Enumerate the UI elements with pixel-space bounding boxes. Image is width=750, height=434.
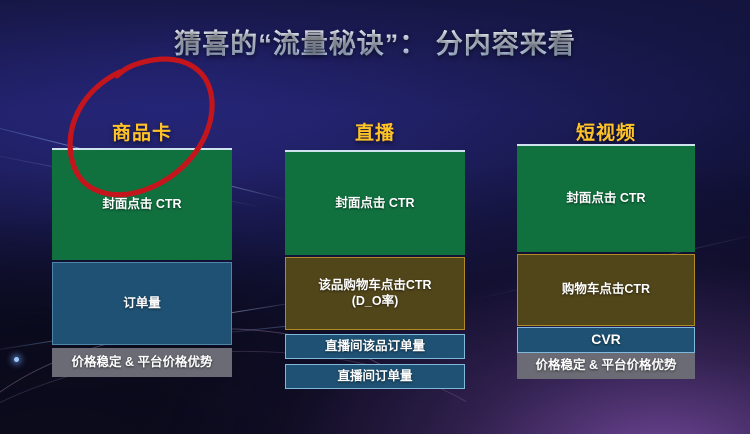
metric-box-cvr[interactable]: CVR [517,327,695,353]
metric-box-room-orders[interactable]: 直播间订单量 [285,364,465,389]
metric-box-cover-ctr[interactable]: 封面点击 CTR [52,148,232,260]
metric-label: 封面点击 CTR [335,196,414,212]
metric-label: CVR [591,331,621,349]
metric-label: 直播间该品订单量 [325,339,425,355]
metric-box-room-product-orders[interactable]: 直播间该品订单量 [285,334,465,359]
column-product-card: 商品卡 封面点击 CTR 订单量 价格稳定 & 平台价格优势 [52,112,232,382]
metric-label: 价格稳定 & 平台价格优势 [72,355,213,371]
metric-label: 封面点击 CTR [102,197,181,213]
metric-box-cart-click-ctr[interactable]: 购物车点击CTR [517,254,695,326]
page-title: 猜喜的“流量秘诀”： 分内容来看 [0,22,750,61]
background-dot [14,357,19,362]
column-livestream: 直播 封面点击 CTR 该品购物车点击CTR (D_O率) 直播间该品订单量 直… [285,112,465,384]
metric-label: 直播间订单量 [337,369,412,385]
metric-label: 该品购物车点击CTR [318,278,431,292]
column-header-product-card: 商品卡 [52,118,232,145]
slide-canvas: 猜喜的“流量秘诀”： 分内容来看 商品卡 封面点击 CTR 订单量 价格稳定 &… [0,0,750,434]
column-header-short-video: 短视频 [517,118,695,145]
column-short-video: 短视频 封面点击 CTR 购物车点击CTR CVR 价格稳定 & 平台价格优势 [517,112,695,382]
metric-label: 购物车点击CTR [562,282,650,298]
metric-sublabel: (D_O率) [318,294,431,310]
metric-box-order-count[interactable]: 订单量 [52,262,232,345]
metric-box-price-advantage[interactable]: 价格稳定 & 平台价格优势 [52,348,232,377]
metric-box-cover-ctr[interactable]: 封面点击 CTR [517,144,695,252]
metric-label: 订单量 [123,296,161,312]
metric-label: 价格稳定 & 平台价格优势 [536,358,677,374]
column-header-livestream: 直播 [285,118,465,145]
metric-box-cover-ctr[interactable]: 封面点击 CTR [285,150,465,255]
metric-box-cart-click-ctr[interactable]: 该品购物车点击CTR (D_O率) [285,257,465,330]
metric-box-price-advantage[interactable]: 价格稳定 & 平台价格优势 [517,353,695,379]
metric-label: 封面点击 CTR [566,191,645,207]
